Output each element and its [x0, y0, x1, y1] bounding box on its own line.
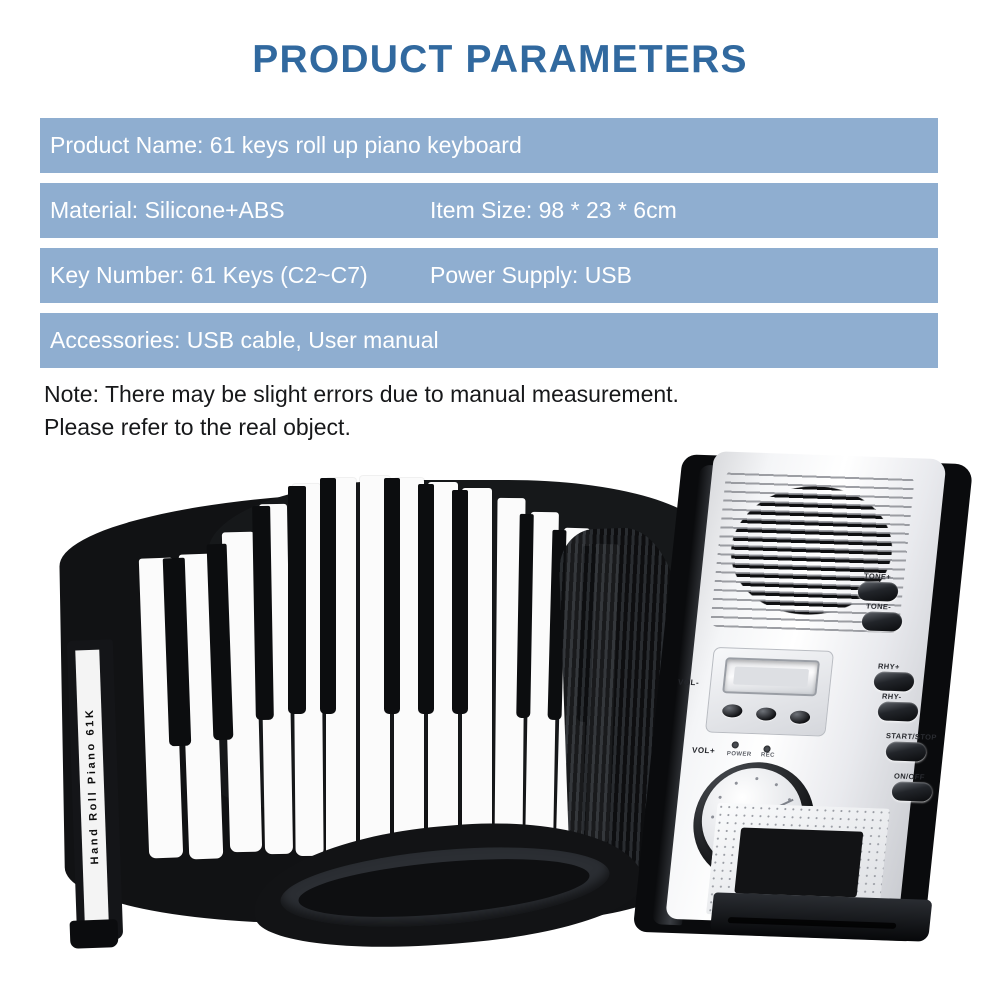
black-key [418, 484, 434, 714]
start-stop-button[interactable] [885, 741, 927, 761]
black-key [384, 478, 400, 714]
brand-label-text: Hand Roll Piano 61K [83, 707, 100, 864]
round-button-1[interactable] [722, 704, 743, 718]
tone-down-label: TONE- [866, 602, 892, 612]
page-title: PRODUCT PARAMETERS [0, 40, 1000, 79]
volume-up-label: VOL+ [692, 746, 716, 756]
lcd-display [722, 657, 820, 696]
power-led-icon [731, 741, 739, 748]
on-off-label: ON/OFF [894, 771, 926, 781]
parameter-table: Product Name: 61 keys roll up piano keyb… [40, 118, 938, 378]
rec-led-label: REC [761, 752, 776, 758]
black-key [288, 486, 306, 714]
table-row: Material: Silicone+ABS Item Size: 98 * 2… [40, 183, 938, 238]
measurement-note: Note: There may be slight errors due to … [44, 378, 964, 444]
table-row: Accessories: USB cable, User manual [40, 313, 938, 368]
on-off-button[interactable] [891, 781, 933, 801]
tone-up-button[interactable] [857, 581, 899, 601]
rhythm-up-button[interactable] [873, 671, 915, 691]
power-led-label: POWER [726, 751, 751, 758]
volume-down-label: VOL- [678, 678, 700, 688]
round-button-2[interactable] [755, 707, 776, 721]
black-key [320, 478, 336, 714]
black-key [252, 506, 274, 720]
lcd-screen-area [733, 667, 809, 687]
note-line-1: Note: There may be slight errors due to … [44, 378, 964, 411]
param-key-number: Key Number: 61 Keys (C2~C7) [40, 264, 430, 287]
param-product-name: Product Name: 61 keys roll up piano keyb… [40, 134, 430, 157]
table-row: Key Number: 61 Keys (C2~C7) Power Supply… [40, 248, 938, 303]
start-stop-label: START/STOP [885, 731, 937, 742]
param-material: Material: Silicone+ABS [40, 199, 430, 222]
product-photo: Hand Roll Piano 61K POW [0, 440, 1000, 1000]
control-unit: POWER REC [650, 450, 960, 950]
lcd-panel [705, 647, 834, 737]
param-power-supply: Power Supply: USB [430, 264, 850, 287]
rhythm-down-button[interactable] [877, 701, 919, 721]
round-button-3[interactable] [789, 710, 810, 724]
black-key [452, 490, 468, 714]
keyboard-end-foot [70, 919, 119, 949]
table-row: Product Name: 61 keys roll up piano keyb… [40, 118, 938, 173]
rhythm-down-label: RHY- [882, 692, 903, 702]
param-accessories: Accessories: USB cable, User manual [40, 329, 430, 352]
tone-up-label: TONE+ [864, 572, 892, 582]
rhythm-up-label: RHY+ [878, 662, 901, 672]
param-item-size: Item Size: 98 * 23 * 6cm [430, 199, 850, 222]
tone-down-button[interactable] [861, 611, 903, 631]
panel-dark-window [734, 827, 863, 897]
